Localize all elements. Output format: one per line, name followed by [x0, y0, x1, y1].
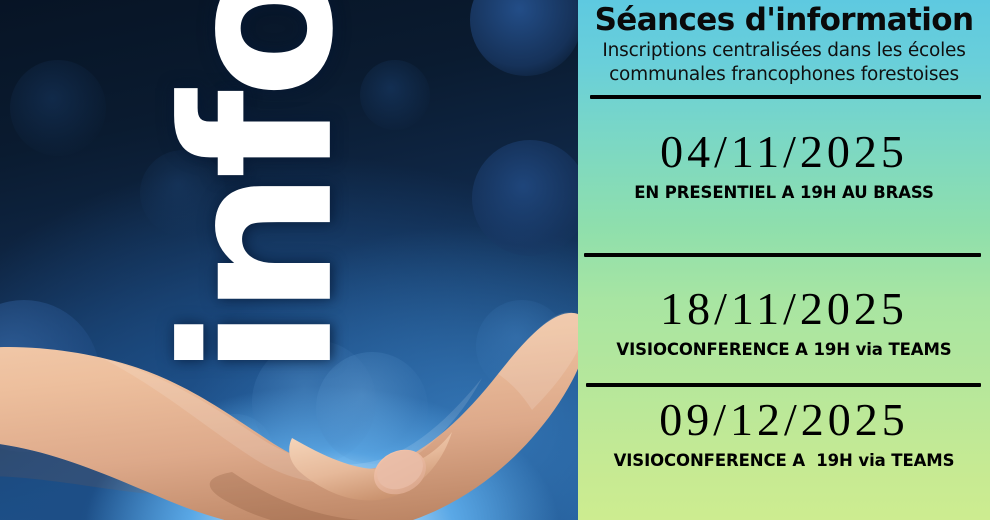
session-date: 04/11/2025: [578, 128, 990, 177]
session-caption: EN PRESENTIEL A 19H AU BRASS: [578, 177, 990, 203]
session-caption: VISIOCONFERENCE A 19H via TEAMS: [578, 334, 990, 360]
bokeh-circle: [472, 140, 578, 256]
session-caption: VISIOCONFERENCE A 19H via TEAMS: [578, 445, 990, 471]
divider: [584, 253, 981, 257]
info-panel: Séances d'information Inscriptions centr…: [578, 0, 990, 520]
session-entry: 09/12/2025 VISIOCONFERENCE A 19H via TEA…: [578, 396, 990, 471]
subtitle: Inscriptions centralisées dans les école…: [590, 36, 978, 86]
session-date: 18/11/2025: [578, 285, 990, 334]
bokeh-circle: [10, 60, 106, 156]
divider: [586, 383, 981, 387]
open-hand-illustration: [0, 262, 578, 520]
divider: [590, 95, 981, 99]
session-entry: 18/11/2025 VISIOCONFERENCE A 19H via TEA…: [578, 285, 990, 360]
page-title: Séances d'information: [590, 0, 978, 36]
hero-image: info: [0, 0, 578, 520]
session-date: 09/12/2025: [578, 396, 990, 445]
bokeh-circle: [470, 0, 578, 76]
session-entry: 04/11/2025 EN PRESENTIEL A 19H AU BRASS: [578, 128, 990, 203]
subtitle-line-2: communales francophones forestoises: [590, 63, 978, 87]
subtitle-line-1: Inscriptions centralisées dans les école…: [590, 39, 978, 63]
poster: info: [0, 0, 990, 520]
